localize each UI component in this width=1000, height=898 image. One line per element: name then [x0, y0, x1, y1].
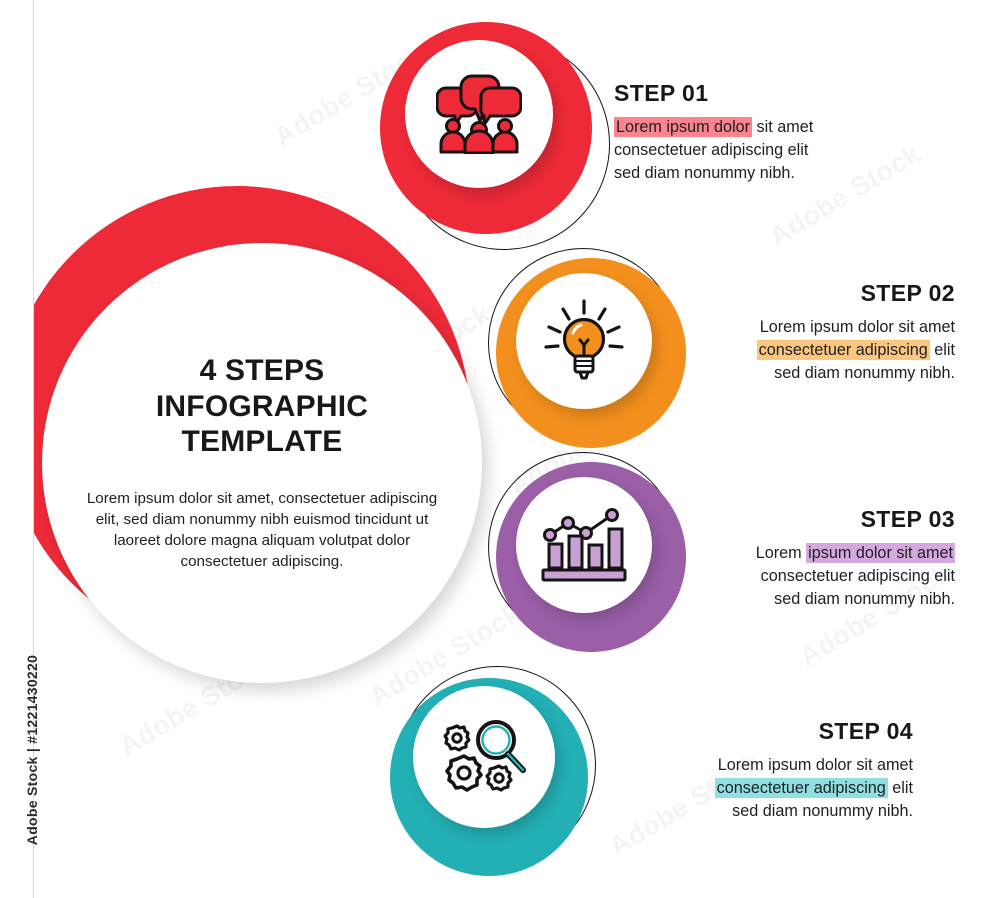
- step-circle-4[interactable]: [390, 666, 606, 882]
- step-body-line: sed diam nonummy nibh.: [614, 162, 914, 185]
- gears-magnifier-icon: [439, 716, 529, 798]
- step-highlight-1: Lorem ipsum dolor: [614, 117, 752, 137]
- step-highlight-3: ipsum dolor sit amet: [806, 543, 955, 563]
- step-title-3: STEP 03: [650, 506, 955, 533]
- step-body-line: Lorem ipsum dolor sit amet: [650, 542, 955, 565]
- step-text-4: STEP 04 Lorem ipsum dolor sit amet conse…: [608, 718, 913, 823]
- step-circle-1[interactable]: [380, 22, 612, 254]
- page-title-line: 4 STEPS: [156, 353, 368, 388]
- step-body-3: Lorem ipsum dolor sit amet consectetuer …: [650, 542, 955, 611]
- step-body-2: Lorem ipsum dolor sit amet consectetuer …: [650, 316, 955, 385]
- step-body-1: Lorem ipsum dolor sit amet consectetuer …: [614, 116, 914, 185]
- step-icon-wrap-3: [516, 477, 652, 613]
- step-body-line: consectetuer adipiscing elit: [608, 777, 913, 800]
- step-text-2: STEP 02 Lorem ipsum dolor sit amet conse…: [650, 280, 955, 385]
- step-icon-wrap-4: [413, 686, 555, 828]
- step-text-1: STEP 01 Lorem ipsum dolor sit amet conse…: [614, 80, 914, 185]
- step-body-line: consectetuer adipiscing elit: [614, 139, 914, 162]
- hero-description: Lorem ipsum dolor sit amet, consectetuer…: [76, 489, 448, 573]
- step-title-1: STEP 01: [614, 80, 914, 107]
- step-title-2: STEP 02: [650, 280, 955, 307]
- step-body-line: consectetuer adipiscing elit: [650, 339, 955, 362]
- step-body-line: sed diam nonummy nibh.: [650, 362, 955, 385]
- watermark-credit: Adobe Stock | #1221430220: [24, 605, 40, 895]
- people-speech-bubbles-icon: [436, 74, 522, 154]
- page-title-line: TEMPLATE: [156, 424, 368, 459]
- infographic-canvas: Adobe Stock Adobe Stock Adobe Stock Adob…: [0, 0, 1000, 898]
- step-body-4: Lorem ipsum dolor sit amet consectetuer …: [608, 754, 913, 823]
- step-highlight-2: consectetuer adipiscing: [757, 340, 930, 360]
- page-title: 4 STEPS INFOGRAPHIC TEMPLATE: [156, 353, 368, 458]
- step-highlight-4: consectetuer adipiscing: [715, 778, 888, 798]
- step-body-line: Lorem ipsum dolor sit amet: [650, 316, 955, 339]
- step-body-line: sed diam nonummy nibh.: [650, 588, 955, 611]
- page-title-line: INFOGRAPHIC: [156, 389, 368, 424]
- step-icon-wrap-1: [405, 40, 553, 188]
- step-body-line: Lorem ipsum dolor sit amet: [614, 116, 914, 139]
- step-body-line: sed diam nonummy nibh.: [608, 800, 913, 823]
- step-body-line: consectetuer adipiscing elit: [650, 565, 955, 588]
- hero-content: 4 STEPS INFOGRAPHIC TEMPLATE Lorem ipsum…: [42, 243, 482, 683]
- step-text-3: STEP 03 Lorem ipsum dolor sit amet conse…: [650, 506, 955, 611]
- step-icon-wrap-2: [516, 273, 652, 409]
- step-body-line: Lorem ipsum dolor sit amet: [608, 754, 913, 777]
- bar-chart-trend-icon: [540, 507, 628, 583]
- lightbulb-icon: [543, 299, 625, 383]
- step-title-4: STEP 04: [608, 718, 913, 745]
